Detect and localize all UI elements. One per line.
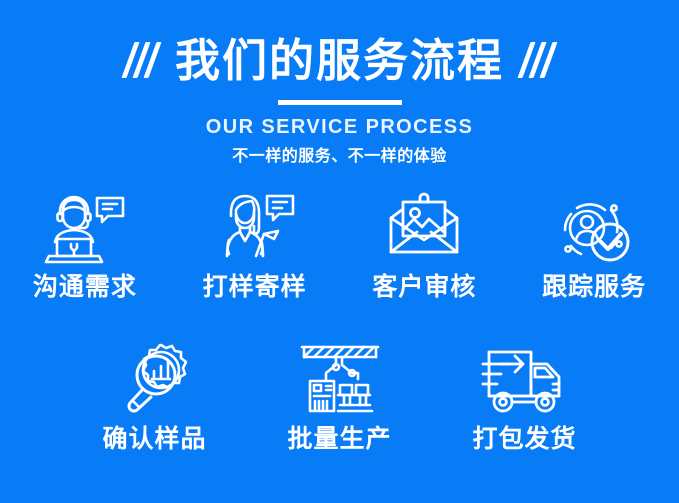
step-item-customer-review[interactable]: 客户审核: [340, 188, 510, 302]
factory-crane-production-icon: [294, 340, 386, 418]
step-item-tracking-service[interactable]: 跟踪服务: [509, 188, 679, 302]
user-orbit-checkmark-icon: [547, 188, 641, 266]
magnifier-gear-chart-icon: [109, 340, 201, 418]
title-underline-divider: [278, 100, 402, 105]
step-item-confirm-sample[interactable]: 确认样品: [62, 340, 247, 454]
triple-slash-right-icon: [524, 40, 551, 80]
step-item-pack-and-ship[interactable]: 打包发货: [432, 340, 617, 454]
step-label: 客户审核: [372, 274, 476, 302]
step-label: 沟通需求: [33, 274, 137, 302]
step-label: 跟踪服务: [542, 274, 646, 302]
step-item-mass-production[interactable]: 批量生产: [247, 340, 432, 454]
headset-agent-laptop-chat-icon: [37, 188, 133, 266]
steps-row-2: 确认样品: [0, 340, 679, 454]
step-label: 打样寄样: [203, 274, 307, 302]
steps-row-1: 沟通需求: [0, 188, 679, 302]
triple-slash-left-icon: [128, 40, 155, 80]
envelope-photo-icon: [379, 188, 469, 266]
step-label: 确认样品: [102, 426, 206, 454]
step-item-sampling[interactable]: 打样寄样: [170, 188, 340, 302]
step-item-communicate[interactable]: 沟通需求: [0, 188, 170, 302]
page-title: 我们的服务流程: [175, 38, 504, 83]
delivery-truck-arrow-icon: [475, 340, 575, 418]
woman-chat-pen-icon: [207, 188, 303, 266]
step-label: 打包发货: [472, 426, 576, 454]
service-process-banner: 我们的服务流程 OUR SERVICE PROCESS 不一样的服务、不一样的体…: [0, 0, 679, 503]
subtitle-chinese: 不一样的服务、不一样的体验: [0, 149, 679, 165]
subtitle-english: OUR SERVICE PROCESS: [0, 117, 679, 137]
step-label: 批量生产: [287, 426, 391, 454]
title-row: 我们的服务流程: [0, 31, 679, 89]
banner-header: 我们的服务流程 OUR SERVICE PROCESS 不一样的服务、不一样的体…: [0, 0, 679, 165]
